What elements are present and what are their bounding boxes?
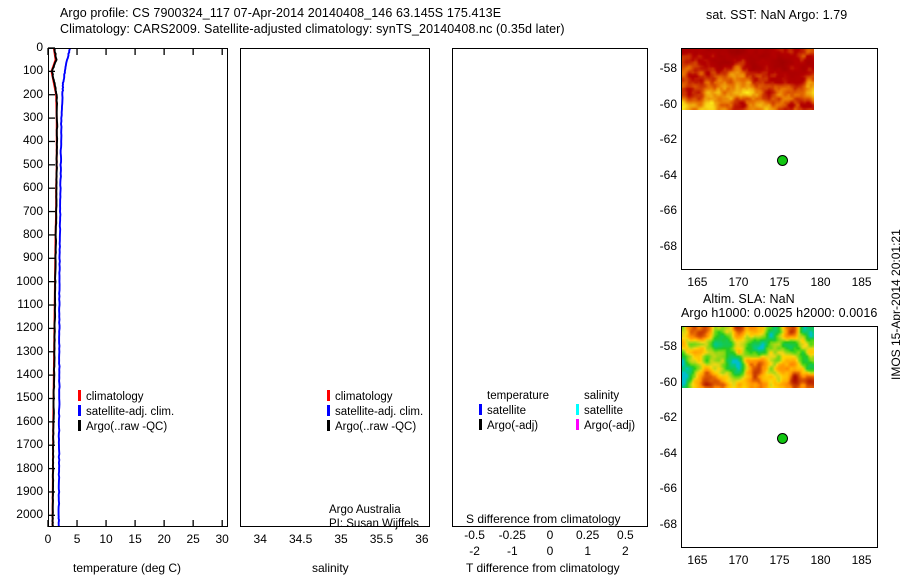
s-axis-tick-0.5: 0.5 xyxy=(603,528,647,542)
sla-map-y-tick--60: -60 xyxy=(647,375,677,389)
legend-label: satellite-adj. clim. xyxy=(335,406,423,418)
legend-swatch-satellite-adj xyxy=(327,405,330,416)
legend-swatch-climatology xyxy=(78,390,81,401)
legend-label: temperature xyxy=(487,390,549,402)
legend-label: satellite xyxy=(487,405,526,417)
sst-map-x-tick-180: 180 xyxy=(799,275,843,289)
legend-item: Argo(-adj) xyxy=(479,419,549,432)
legend-label: Argo(..raw -QC) xyxy=(86,421,167,433)
sla-map-x-tick-175: 175 xyxy=(758,553,802,567)
legend-label: climatology xyxy=(86,391,144,403)
page-title-line1: Argo profile: CS 7900324_117 07-Apr-2014… xyxy=(60,6,501,20)
sla-map-x-tick-180: 180 xyxy=(799,553,843,567)
difference-plot-frame xyxy=(452,48,648,527)
temperature-legend: climatology satellite-adj. clim. Argo(..… xyxy=(78,390,174,433)
salinity-x-axis-label: salinity xyxy=(312,561,349,575)
y-axis-tick-100: 100 xyxy=(0,63,43,77)
imos-timestamp: IMOS 15-Apr-2014 20:01:21 xyxy=(889,229,900,380)
y-axis-tick-700: 700 xyxy=(0,204,43,218)
legend-item: Argo(..raw -QC) xyxy=(327,420,423,433)
difference-legend-temperature: temperature satellite Argo(-adj) xyxy=(479,390,549,432)
y-axis-tick-500: 500 xyxy=(0,157,43,171)
salinity-legend: climatology satellite-adj. clim. Argo(..… xyxy=(327,390,423,433)
sla-map-y-tick--58: -58 xyxy=(647,339,677,353)
sla-map-title-line2: Argo h1000: 0.0025 h2000: 0.0016 xyxy=(681,306,877,320)
legend-label: Argo(..raw -QC) xyxy=(335,421,416,433)
sst-map-y-tick--64: -64 xyxy=(647,168,677,182)
legend-item: climatology xyxy=(78,390,174,403)
y-axis-tick-400: 400 xyxy=(0,133,43,147)
sla-map-y-tick--68: -68 xyxy=(647,517,677,531)
sla-map-y-tick--64: -64 xyxy=(647,446,677,460)
legend-swatch-argo xyxy=(78,420,81,431)
legend-item: satellite-adj. clim. xyxy=(78,405,174,418)
sla-raster xyxy=(682,327,814,388)
sla-map-x-tick-185: 185 xyxy=(840,553,884,567)
y-axis-tick-200: 200 xyxy=(0,87,43,101)
y-axis-tick-1500: 1500 xyxy=(0,390,43,404)
sst-map-x-tick-165: 165 xyxy=(675,275,719,289)
y-axis-tick-0: 0 xyxy=(0,40,43,54)
temperature-x-axis-label: temperature (deg C) xyxy=(73,561,181,575)
difference-s-axis-label: S difference from climatology xyxy=(466,512,621,526)
sst-map-y-tick--66: -66 xyxy=(647,203,677,217)
x-axis-tick-30: 30 xyxy=(202,532,242,546)
legend-label: salinity xyxy=(584,390,619,402)
page-title-line2: Climatology: CARS2009. Satellite-adjuste… xyxy=(60,22,565,36)
x-axis-tick-34.5: 34.5 xyxy=(279,532,323,546)
x-axis-tick-35: 35 xyxy=(319,532,363,546)
y-axis-tick-300: 300 xyxy=(0,110,43,124)
x-axis-tick-34: 34 xyxy=(238,532,282,546)
sst-map-x-tick-170: 170 xyxy=(716,275,760,289)
legend-label: Argo(-adj) xyxy=(487,420,538,432)
sst-map-x-tick-175: 175 xyxy=(758,275,802,289)
legend-swatch-argo-adj xyxy=(479,419,482,430)
legend-item: Argo(-adj) xyxy=(576,419,635,432)
y-axis-tick-1700: 1700 xyxy=(0,437,43,451)
legend-label: satellite xyxy=(584,405,623,417)
x-axis-tick-36: 36 xyxy=(400,532,444,546)
legend-label: satellite-adj. clim. xyxy=(86,406,174,418)
sst-map-y-tick--60: -60 xyxy=(647,97,677,111)
legend-label: Argo(-adj) xyxy=(584,420,635,432)
y-axis-tick-1000: 1000 xyxy=(0,274,43,288)
y-axis-tick-800: 800 xyxy=(0,227,43,241)
legend-item: climatology xyxy=(327,390,423,403)
credit-line-2: PI: Susan Wijffels xyxy=(329,518,419,530)
y-axis-tick-1200: 1200 xyxy=(0,320,43,334)
sla-map-title-line1: Altim. SLA: NaN xyxy=(703,292,795,306)
y-axis-tick-1600: 1600 xyxy=(0,414,43,428)
sst-map-x-tick-185: 185 xyxy=(840,275,884,289)
y-axis-tick-1100: 1100 xyxy=(0,297,43,311)
legend-item: satellite xyxy=(479,404,549,417)
sst-map-y-tick--62: -62 xyxy=(647,132,677,146)
difference-legend-salinity: salinity satellite Argo(-adj) xyxy=(576,390,635,432)
sla-map-y-tick--66: -66 xyxy=(647,481,677,495)
x-axis-tick-35.5: 35.5 xyxy=(359,532,403,546)
legend-title: temperature xyxy=(479,390,549,402)
credit-line-1: Argo Australia xyxy=(329,504,401,516)
y-axis-tick-2000: 2000 xyxy=(0,507,43,521)
legend-swatch-climatology xyxy=(327,390,330,401)
y-axis-tick-1900: 1900 xyxy=(0,484,43,498)
sla-map-x-tick-170: 170 xyxy=(716,553,760,567)
y-axis-tick-900: 900 xyxy=(0,250,43,264)
legend-title: salinity xyxy=(576,390,635,402)
legend-item: satellite-adj. clim. xyxy=(327,405,423,418)
y-axis-tick-600: 600 xyxy=(0,180,43,194)
salinity-plot-frame xyxy=(240,48,430,527)
sst-map-title: sat. SST: NaN Argo: 1.79 xyxy=(706,8,847,22)
legend-swatch-satellite xyxy=(576,404,579,415)
sla-map-x-tick-165: 165 xyxy=(675,553,719,567)
t-axis-tick-2: 2 xyxy=(603,544,647,558)
legend-swatch-satellite xyxy=(479,404,482,415)
legend-swatch-argo-adj xyxy=(576,419,579,430)
y-axis-tick-1400: 1400 xyxy=(0,367,43,381)
legend-item: Argo(..raw -QC) xyxy=(78,420,174,433)
sst-map-y-tick--58: -58 xyxy=(647,61,677,75)
y-axis-tick-1300: 1300 xyxy=(0,344,43,358)
temperature-plot-frame xyxy=(48,48,228,527)
difference-t-axis-label: T difference from climatology xyxy=(466,561,620,575)
sst-raster xyxy=(682,49,814,110)
legend-swatch-satellite-adj xyxy=(78,405,81,416)
legend-swatch-argo xyxy=(327,420,330,431)
y-axis-tick-1800: 1800 xyxy=(0,461,43,475)
sst-map-y-tick--68: -68 xyxy=(647,239,677,253)
legend-item: satellite xyxy=(576,404,635,417)
legend-label: climatology xyxy=(335,391,393,403)
sla-map-y-tick--62: -62 xyxy=(647,410,677,424)
